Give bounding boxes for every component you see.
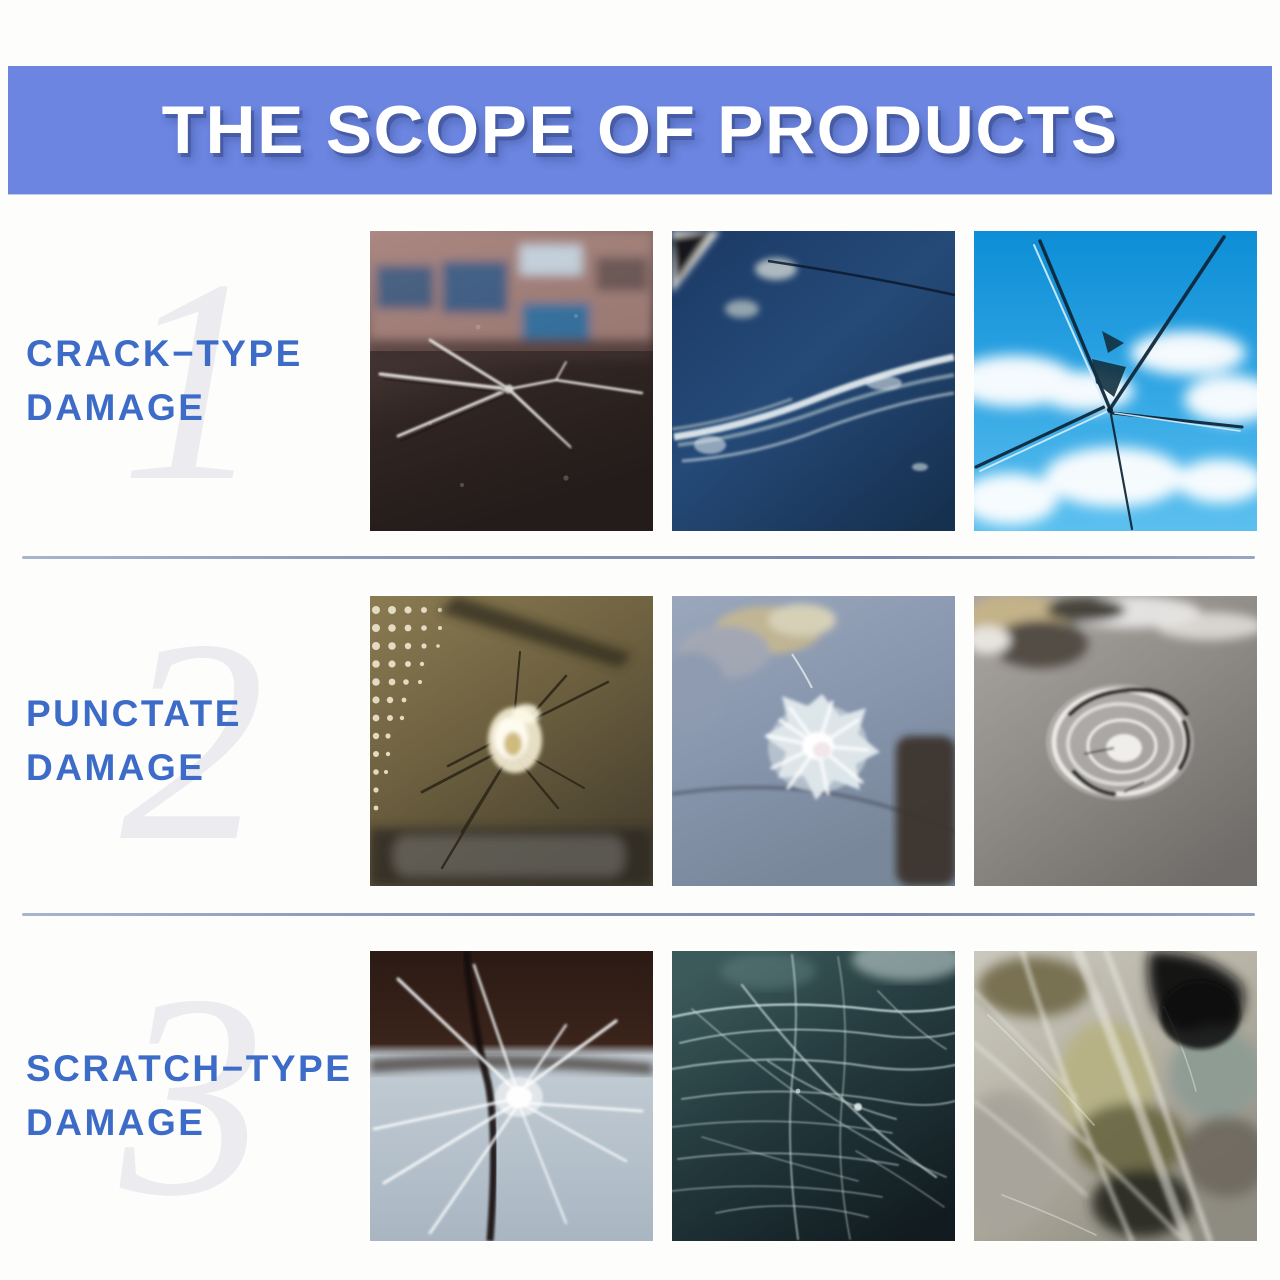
damage-photo-tile[interactable] bbox=[974, 951, 1257, 1241]
category-label-block: 3 SCRATCH−TYPE DAMAGE bbox=[0, 951, 370, 1241]
damage-photo-tile[interactable] bbox=[974, 596, 1257, 886]
damage-photo-tile[interactable] bbox=[370, 231, 653, 531]
category-label-line-2: DAMAGE bbox=[26, 741, 370, 795]
tile-strip bbox=[370, 596, 1280, 886]
category-label: PUNCTATE DAMAGE bbox=[0, 687, 370, 794]
bullseye-chip-spider-legs-photo bbox=[370, 596, 653, 886]
category-label-line-2: DAMAGE bbox=[26, 1096, 370, 1150]
category-row-punctate: 2 PUNCTATE DAMAGE bbox=[0, 596, 1280, 886]
damage-photo-tile[interactable] bbox=[672, 951, 955, 1241]
category-label: SCRATCH−TYPE DAMAGE bbox=[0, 1042, 370, 1149]
category-label: CRACK−TYPE DAMAGE bbox=[0, 327, 370, 434]
long-crack-on-blue-glass-photo bbox=[672, 231, 955, 531]
damage-photo-tile[interactable] bbox=[370, 951, 653, 1241]
damage-photo-tile[interactable] bbox=[672, 596, 955, 886]
category-label-line-1: SCRATCH−TYPE bbox=[26, 1042, 370, 1096]
damage-photo-tile[interactable] bbox=[370, 596, 653, 886]
tile-strip bbox=[370, 951, 1280, 1241]
category-label-block: 2 PUNCTATE DAMAGE bbox=[0, 596, 370, 886]
starburst-scratch-cluster-photo bbox=[370, 951, 653, 1241]
category-label-block: 1 CRACK−TYPE DAMAGE bbox=[0, 231, 370, 531]
rosette-impact-on-grey-glass-photo bbox=[672, 596, 955, 886]
category-row-crack-type: 1 CRACK−TYPE DAMAGE bbox=[0, 231, 1280, 531]
category-label-line-1: PUNCTATE bbox=[26, 687, 370, 741]
damage-photo-tile[interactable] bbox=[974, 231, 1257, 531]
row-divider bbox=[22, 913, 1255, 916]
damage-photo-tile[interactable] bbox=[672, 231, 955, 531]
cracks-against-sky-photo bbox=[974, 231, 1257, 531]
page-title: THE SCOPE OF PRODUCTS bbox=[161, 91, 1118, 169]
category-label-line-2: DAMAGE bbox=[26, 381, 370, 435]
tile-strip bbox=[370, 231, 1280, 531]
dense-scratches-on-teal-glass-photo bbox=[672, 951, 955, 1241]
circular-bullseye-chip-photo bbox=[974, 596, 1257, 886]
header-banner: THE SCOPE OF PRODUCTS bbox=[8, 66, 1272, 194]
category-label-line-1: CRACK−TYPE bbox=[26, 327, 370, 381]
row-divider bbox=[22, 556, 1255, 559]
category-row-scratch-type: 3 SCRATCH−TYPE DAMAGE bbox=[0, 951, 1280, 1241]
crack-star-on-dark-windshield-photo bbox=[370, 231, 653, 531]
hazy-scuffed-headlight-photo bbox=[974, 951, 1257, 1241]
